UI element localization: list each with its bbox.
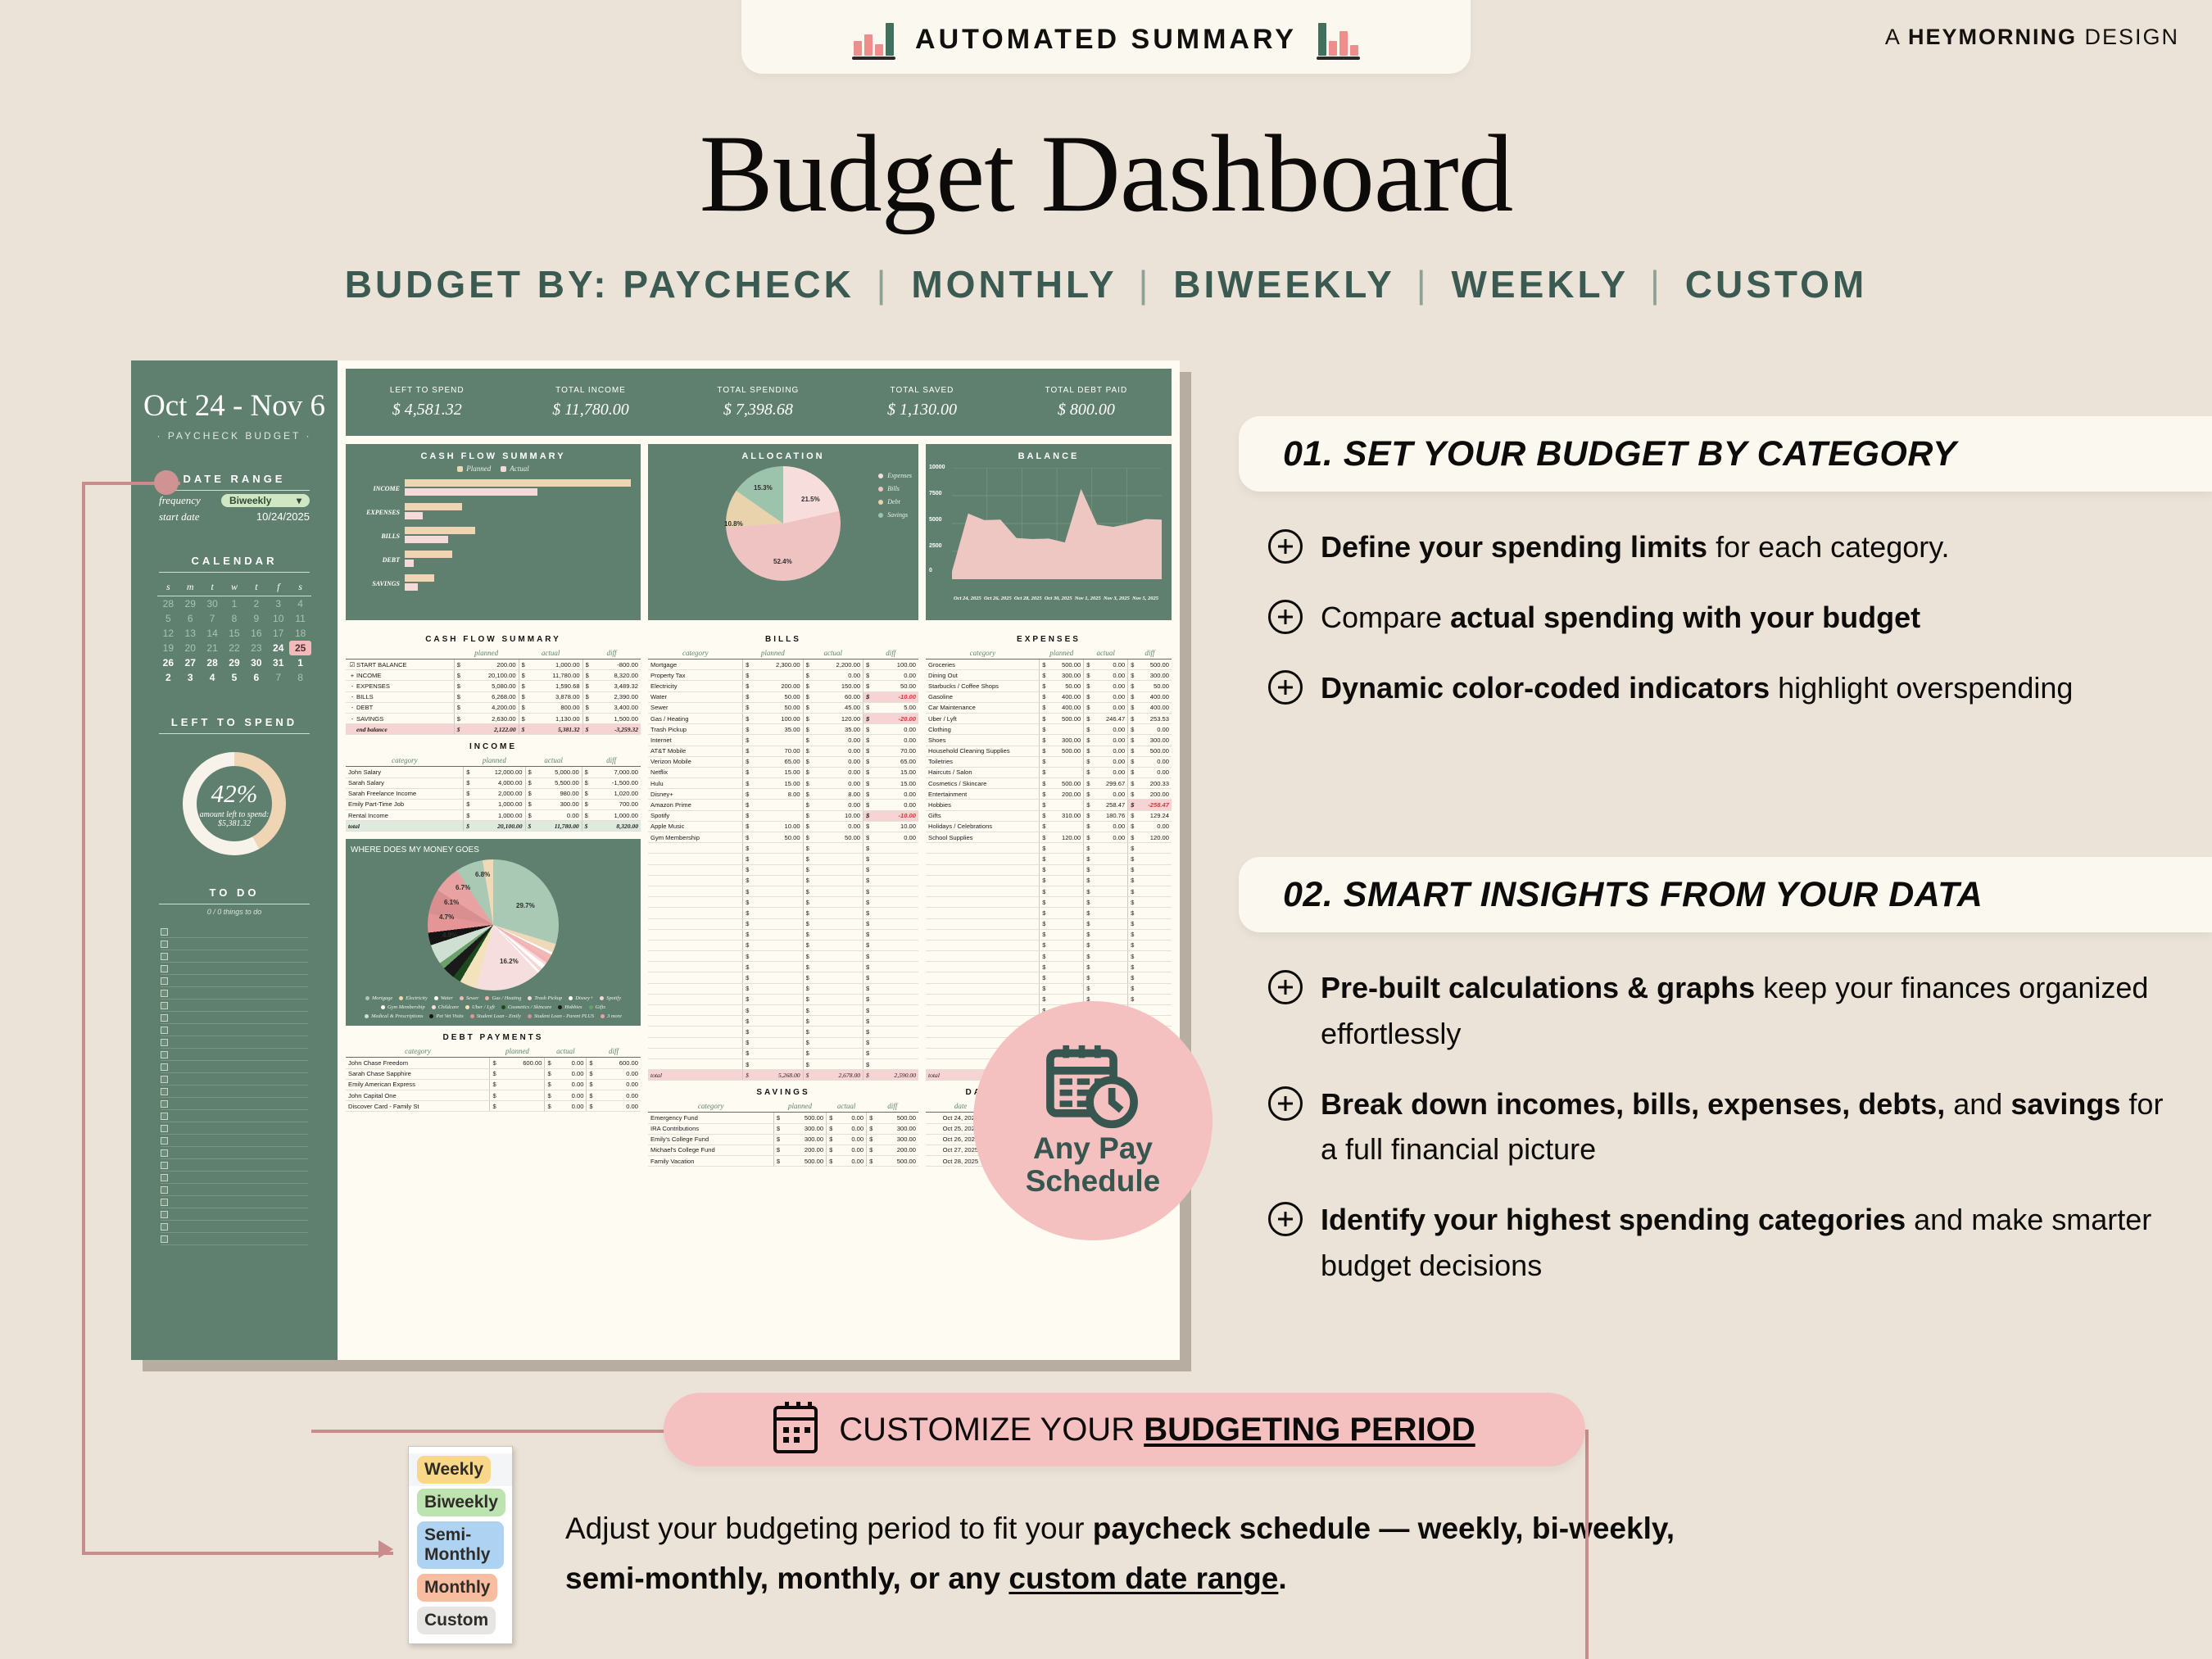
value-actual[interactable]: [1092, 918, 1127, 929]
value-actual[interactable]: [1092, 897, 1127, 908]
table-row[interactable]: +INCOME$20,100.00$11,780.00$8,320.00: [346, 670, 641, 681]
value-planned[interactable]: 6,268.00: [463, 691, 519, 702]
value-actual[interactable]: [812, 864, 863, 875]
calendar-day[interactable]: 4: [289, 596, 311, 612]
value-planned[interactable]: 2,122.00: [463, 724, 519, 735]
value-planned[interactable]: [1048, 821, 1083, 832]
value-planned[interactable]: [1048, 972, 1083, 983]
value-planned[interactable]: 50.00: [1048, 681, 1083, 691]
table-row[interactable]: Amazon Prime$$0.00$0.00: [648, 800, 918, 810]
table-row[interactable]: total$5,268.00$2,678.00$2,590.00: [648, 1070, 918, 1081]
table-row[interactable]: Gas / Heating$100.00$120.00$-20.00: [648, 713, 918, 723]
frequency-dropdown-options[interactable]: WeeklyBiweeklySemi-MonthlyMonthlyCustom: [408, 1446, 513, 1644]
value-planned[interactable]: 65.00: [751, 756, 803, 767]
value-actual[interactable]: 0.00: [835, 1134, 866, 1145]
value-planned[interactable]: [1048, 854, 1083, 864]
table-row[interactable]: -SAVINGS$2,630.00$1,130.00$1,500.00: [346, 713, 641, 723]
calendar-day[interactable]: 19: [157, 641, 179, 655]
value-planned[interactable]: 500.00: [782, 1113, 827, 1123]
calendar-day[interactable]: 18: [289, 626, 311, 641]
todo-checkbox[interactable]: [161, 1125, 168, 1132]
calendar-day[interactable]: 11: [289, 611, 311, 626]
value-planned[interactable]: [751, 962, 803, 972]
table-row-blank[interactable]: $$$: [648, 1027, 918, 1037]
todo-item[interactable]: [161, 938, 308, 950]
todo-checkbox[interactable]: [161, 1051, 168, 1058]
table-row-blank[interactable]: $$$: [648, 908, 918, 918]
table-row-blank[interactable]: $$$: [648, 940, 918, 950]
value-planned[interactable]: 10.00: [751, 821, 803, 832]
table-row-blank[interactable]: $$$: [648, 1005, 918, 1016]
value-planned[interactable]: 4,000.00: [472, 777, 525, 788]
value-planned[interactable]: 2,300.00: [751, 660, 803, 670]
calendar-day[interactable]: 14: [202, 626, 224, 641]
value-actual[interactable]: 60.00: [812, 691, 863, 702]
value-actual[interactable]: [1092, 940, 1127, 950]
value-planned[interactable]: 5,268.00: [751, 1070, 803, 1081]
value-actual[interactable]: 0.00: [1092, 724, 1127, 735]
calendar-day[interactable]: 31: [267, 655, 289, 670]
todo-item[interactable]: [161, 1098, 308, 1110]
value-planned[interactable]: 5,080.00: [463, 681, 519, 691]
table-row[interactable]: Family Vacation$500.00$0.00$500.00: [648, 1156, 918, 1167]
todo-list[interactable]: [143, 926, 326, 1245]
value-actual[interactable]: 0.00: [1092, 670, 1127, 681]
value-planned[interactable]: 200.00: [782, 1145, 827, 1155]
value-planned[interactable]: [1048, 983, 1083, 994]
value-actual[interactable]: 180.76: [1092, 810, 1127, 821]
value-actual[interactable]: [812, 1016, 863, 1027]
value-actual[interactable]: 0.00: [1092, 789, 1127, 800]
value-planned[interactable]: [751, 670, 803, 681]
value-actual[interactable]: 1,590.68: [528, 681, 582, 691]
value-actual[interactable]: 2,678.00: [812, 1070, 863, 1081]
value-actual[interactable]: [1092, 983, 1127, 994]
table-row-blank[interactable]: $$$: [926, 843, 1172, 854]
value-planned[interactable]: 8.00: [751, 789, 803, 800]
value-actual[interactable]: [1092, 886, 1127, 896]
table-row[interactable]: Spotify$$10.00$-10.00: [648, 810, 918, 821]
todo-checkbox[interactable]: [161, 1027, 168, 1034]
calendar-day[interactable]: 7: [267, 670, 289, 685]
todo-checkbox[interactable]: [161, 1076, 168, 1083]
value-actual[interactable]: 0.00: [554, 1079, 587, 1090]
value-actual[interactable]: [1092, 951, 1127, 962]
todo-checkbox[interactable]: [161, 990, 168, 997]
table-row-blank[interactable]: $$$: [926, 908, 1172, 918]
todo-item[interactable]: [161, 1024, 308, 1036]
table-row[interactable]: Hulu$15.00$0.00$15.00: [648, 778, 918, 789]
table-row[interactable]: Sarah Salary$4,000.00$5,500.00$-1,500.00: [346, 777, 641, 788]
todo-item[interactable]: [161, 987, 308, 999]
value-planned[interactable]: 500.00: [1048, 660, 1083, 670]
todo-checkbox[interactable]: [161, 1014, 168, 1022]
table-row-blank[interactable]: $$$: [648, 875, 918, 886]
table-row[interactable]: Car Maintenance$400.00$0.00$400.00: [926, 702, 1172, 713]
value-actual[interactable]: 1,000.00: [528, 660, 582, 670]
calendar-day[interactable]: 26: [157, 655, 179, 670]
calendar-day[interactable]: 28: [157, 596, 179, 612]
value-planned[interactable]: 15.00: [751, 767, 803, 777]
value-planned[interactable]: 2,630.00: [463, 713, 519, 723]
table-row[interactable]: Groceries$500.00$0.00$500.00: [926, 660, 1172, 670]
value-planned[interactable]: [1048, 908, 1083, 918]
table-row[interactable]: Household Cleaning Supplies$500.00$0.00$…: [926, 746, 1172, 756]
table-row-blank[interactable]: $$$: [926, 940, 1172, 950]
table-row[interactable]: Disney+$8.00$8.00$0.00: [648, 789, 918, 800]
value-planned[interactable]: 70.00: [751, 746, 803, 756]
todo-item[interactable]: [161, 1147, 308, 1159]
calendar-day[interactable]: 3: [267, 596, 289, 612]
value-actual[interactable]: [812, 962, 863, 972]
value-planned[interactable]: [1048, 886, 1083, 896]
value-actual[interactable]: 0.00: [812, 735, 863, 746]
value-actual[interactable]: 0.00: [1092, 832, 1127, 843]
value-actual[interactable]: [812, 843, 863, 854]
table-row[interactable]: Gifts$310.00$180.76$129.24: [926, 810, 1172, 821]
calendar-day[interactable]: 16: [245, 626, 267, 641]
value-actual[interactable]: 120.00: [812, 713, 863, 723]
start-date-value[interactable]: 10/24/2025: [256, 510, 310, 524]
value-actual[interactable]: [812, 929, 863, 940]
table-row-blank[interactable]: $$$: [926, 983, 1172, 994]
calendar-day[interactable]: 12: [157, 626, 179, 641]
table-row[interactable]: Sewer$50.00$45.00$5.00: [648, 702, 918, 713]
value-actual[interactable]: 0.00: [1092, 756, 1127, 767]
value-planned[interactable]: 120.00: [1048, 832, 1083, 843]
value-planned[interactable]: 20,100.00: [463, 670, 519, 681]
todo-checkbox[interactable]: [161, 1100, 168, 1108]
value-planned[interactable]: [1048, 767, 1083, 777]
value-planned[interactable]: 100.00: [751, 713, 803, 723]
value-actual[interactable]: [812, 854, 863, 864]
dropdown-option-weekly[interactable]: Weekly: [409, 1453, 512, 1486]
todo-item[interactable]: [161, 950, 308, 963]
subtitle-option-custom[interactable]: CUSTOM: [1671, 263, 1867, 306]
value-actual[interactable]: 0.00: [1092, 681, 1127, 691]
income-table[interactable]: category planned actual diff John Salary…: [346, 756, 641, 832]
value-actual[interactable]: [812, 1005, 863, 1016]
value-planned[interactable]: [1048, 800, 1083, 810]
table-row[interactable]: Toiletries$$0.00$0.00: [926, 756, 1172, 767]
value-actual[interactable]: [1092, 875, 1127, 886]
value-actual[interactable]: 0.00: [812, 767, 863, 777]
subtitle-option-paycheck[interactable]: PAYCHECK: [623, 263, 868, 306]
value-planned[interactable]: [1048, 918, 1083, 929]
calendar-day[interactable]: 25: [289, 641, 311, 655]
table-row-blank[interactable]: $$$: [926, 897, 1172, 908]
value-planned[interactable]: 400.00: [1048, 691, 1083, 702]
todo-checkbox[interactable]: [161, 1002, 168, 1009]
value-planned[interactable]: [751, 983, 803, 994]
table-row-blank[interactable]: $$$: [648, 1037, 918, 1048]
table-row-blank[interactable]: $$$: [648, 983, 918, 994]
todo-item[interactable]: [161, 1073, 308, 1086]
value-actual[interactable]: [812, 972, 863, 983]
value-actual[interactable]: 0.00: [554, 1090, 587, 1101]
table-row-blank[interactable]: $$$: [648, 951, 918, 962]
value-actual[interactable]: 0.00: [554, 1101, 587, 1112]
table-row-blank[interactable]: $$$: [648, 843, 918, 854]
value-actual[interactable]: 0.00: [1092, 702, 1127, 713]
calendar-day[interactable]: 5: [157, 611, 179, 626]
value-planned[interactable]: [751, 1016, 803, 1027]
table-row[interactable]: Sarah Freelance Income$2,000.00$980.00$1…: [346, 788, 641, 799]
table-row-blank[interactable]: $$$: [648, 864, 918, 875]
value-actual[interactable]: [812, 1058, 863, 1069]
value-planned[interactable]: 200.00: [1048, 789, 1083, 800]
dropdown-option-biweekly[interactable]: Biweekly: [409, 1486, 512, 1519]
value-planned[interactable]: 500.00: [1048, 713, 1083, 723]
todo-item[interactable]: [161, 1110, 308, 1122]
value-planned[interactable]: 1,000.00: [472, 810, 525, 821]
value-planned[interactable]: [499, 1101, 545, 1112]
table-row-blank[interactable]: $$$: [648, 972, 918, 983]
value-actual[interactable]: 150.00: [812, 681, 863, 691]
value-planned[interactable]: [751, 1005, 803, 1016]
value-planned[interactable]: [1048, 756, 1083, 767]
value-planned[interactable]: [751, 918, 803, 929]
value-actual[interactable]: 0.00: [1092, 821, 1127, 832]
value-actual[interactable]: 0.00: [812, 746, 863, 756]
value-actual[interactable]: [1092, 864, 1127, 875]
value-actual[interactable]: 0.00: [1092, 767, 1127, 777]
calendar-day[interactable]: 30: [245, 655, 267, 670]
value-actual[interactable]: 2,200.00: [812, 660, 863, 670]
calendar-day[interactable]: 2: [157, 670, 179, 685]
todo-item[interactable]: [161, 1036, 308, 1049]
bottom-text-d[interactable]: custom date range: [1009, 1562, 1278, 1595]
value-planned[interactable]: [751, 951, 803, 962]
value-planned[interactable]: [1048, 875, 1083, 886]
value-actual[interactable]: 0.00: [1092, 746, 1127, 756]
todo-item[interactable]: [161, 963, 308, 975]
value-planned[interactable]: [751, 875, 803, 886]
value-planned[interactable]: 200.00: [463, 660, 519, 670]
frequency-select[interactable]: Biweekly ▾: [221, 494, 310, 507]
table-row-blank[interactable]: $$$: [926, 864, 1172, 875]
value-actual[interactable]: 258.47: [1092, 800, 1127, 810]
todo-checkbox[interactable]: [161, 1162, 168, 1169]
value-actual[interactable]: 0.00: [554, 1058, 587, 1068]
table-row[interactable]: total$20,100.00$11,780.00$8,320.00: [346, 821, 641, 832]
value-planned[interactable]: 50.00: [751, 832, 803, 843]
todo-checkbox[interactable]: [161, 1113, 168, 1120]
table-row-blank[interactable]: $$$: [648, 929, 918, 940]
todo-item[interactable]: [161, 1086, 308, 1098]
todo-checkbox[interactable]: [161, 1149, 168, 1157]
calendar-day[interactable]: 28: [202, 655, 224, 670]
value-actual[interactable]: 0.00: [812, 821, 863, 832]
subtitle-option-weekly[interactable]: WEEKLY: [1438, 263, 1642, 306]
value-planned[interactable]: 600.00: [499, 1058, 545, 1068]
table-row[interactable]: Cosmetics / Skincare$500.00$299.67$200.3…: [926, 778, 1172, 789]
value-planned[interactable]: [499, 1079, 545, 1090]
todo-checkbox[interactable]: [161, 1211, 168, 1218]
table-row[interactable]: Internet$$0.00$0.00: [648, 735, 918, 746]
table-row-blank[interactable]: $$$: [926, 854, 1172, 864]
table-row[interactable]: Starbucks / Coffee Shops$50.00$0.00$50.0…: [926, 681, 1172, 691]
value-actual[interactable]: [812, 983, 863, 994]
value-planned[interactable]: 35.00: [751, 724, 803, 735]
todo-checkbox[interactable]: [161, 1088, 168, 1095]
value-planned[interactable]: [1048, 940, 1083, 950]
todo-checkbox[interactable]: [161, 941, 168, 948]
todo-item[interactable]: [161, 1172, 308, 1184]
calendar-day[interactable]: 8: [224, 611, 246, 626]
todo-checkbox[interactable]: [161, 1174, 168, 1181]
value-planned[interactable]: [751, 886, 803, 896]
calendar-day[interactable]: 27: [179, 655, 202, 670]
table-row[interactable]: -EXPENSES$5,080.00$1,590.68$3,489.32: [346, 681, 641, 691]
value-planned[interactable]: [751, 843, 803, 854]
value-planned[interactable]: [1048, 897, 1083, 908]
value-planned[interactable]: [751, 908, 803, 918]
dropdown-option-monthly[interactable]: Monthly: [409, 1571, 512, 1604]
value-planned[interactable]: 15.00: [751, 778, 803, 789]
table-row[interactable]: Entertainment$200.00$0.00$200.00: [926, 789, 1172, 800]
value-actual[interactable]: [812, 940, 863, 950]
value-actual[interactable]: [1092, 908, 1127, 918]
value-planned[interactable]: 500.00: [1048, 746, 1083, 756]
value-actual[interactable]: 8.00: [812, 789, 863, 800]
value-planned[interactable]: [751, 1027, 803, 1037]
calendar-day[interactable]: 24: [267, 641, 289, 655]
value-planned[interactable]: [751, 800, 803, 810]
value-actual[interactable]: [812, 1027, 863, 1037]
table-row[interactable]: Emily Part-Time Job$1,000.00$300.00$700.…: [346, 799, 641, 809]
value-planned[interactable]: [1048, 951, 1083, 962]
table-row[interactable]: Shoes$300.00$0.00$300.00: [926, 735, 1172, 746]
value-planned[interactable]: 300.00: [782, 1134, 827, 1145]
value-actual[interactable]: [1092, 854, 1127, 864]
value-actual[interactable]: [812, 886, 863, 896]
todo-item[interactable]: [161, 1135, 308, 1147]
table-row[interactable]: Uber / Lyft$500.00$246.47$253.53: [926, 713, 1172, 723]
table-row[interactable]: School Supplies$120.00$0.00$120.00: [926, 832, 1172, 843]
table-row[interactable]: Verizon Mobile$65.00$0.00$65.00: [648, 756, 918, 767]
debt-payments-table[interactable]: category planned actual diff John Chase …: [346, 1047, 641, 1112]
value-actual[interactable]: 11,780.00: [534, 821, 582, 832]
value-planned[interactable]: 2,000.00: [472, 788, 525, 799]
calendar[interactable]: smtwtfs282930123456789101112131415161718…: [157, 581, 311, 685]
value-actual[interactable]: 35.00: [812, 724, 863, 735]
value-actual[interactable]: 0.00: [812, 670, 863, 681]
table-row[interactable]: -BILLS$6,268.00$3,878.00$2,390.00: [346, 691, 641, 702]
value-planned[interactable]: [499, 1068, 545, 1079]
calendar-day[interactable]: 29: [179, 596, 202, 612]
table-row[interactable]: Dining Out$300.00$0.00$300.00: [926, 670, 1172, 681]
value-planned[interactable]: [499, 1090, 545, 1101]
todo-item[interactable]: [161, 1196, 308, 1208]
todo-item[interactable]: [161, 1184, 308, 1196]
value-actual[interactable]: 299.67: [1092, 778, 1127, 789]
todo-checkbox[interactable]: [161, 1137, 168, 1145]
bills-table[interactable]: category planned actual diff Mortgage$2,…: [648, 649, 918, 1081]
value-planned[interactable]: 1,000.00: [472, 799, 525, 809]
value-actual[interactable]: 0.00: [534, 810, 582, 821]
value-planned[interactable]: [751, 972, 803, 983]
calendar-day[interactable]: 29: [224, 655, 246, 670]
calendar-day[interactable]: 13: [179, 626, 202, 641]
table-row[interactable]: IRA Contributions$300.00$0.00$300.00: [648, 1123, 918, 1134]
table-row[interactable]: Haircuts / Salon$$0.00$0.00: [926, 767, 1172, 777]
calendar-day[interactable]: 1: [224, 596, 246, 612]
value-actual[interactable]: [1092, 843, 1127, 854]
value-planned[interactable]: [751, 1037, 803, 1048]
value-actual[interactable]: 5,381.32: [528, 724, 582, 735]
value-actual[interactable]: 5,000.00: [534, 767, 582, 777]
value-planned[interactable]: 500.00: [1048, 778, 1083, 789]
table-row[interactable]: Clothing$$0.00$0.00: [926, 724, 1172, 735]
value-planned[interactable]: 500.00: [782, 1156, 827, 1167]
value-actual[interactable]: [812, 875, 863, 886]
todo-item[interactable]: [161, 926, 308, 938]
cash-flow-table[interactable]: planned actual diff ☑START BALANCE$200.0…: [346, 649, 641, 735]
table-row-blank[interactable]: $$$: [648, 897, 918, 908]
table-row[interactable]: Water$50.00$60.00$-10.00: [648, 691, 918, 702]
value-actual[interactable]: [812, 1048, 863, 1058]
todo-item[interactable]: [161, 1061, 308, 1073]
table-row[interactable]: John Capital One$$0.00$0.00: [346, 1090, 641, 1101]
table-row-blank[interactable]: $$$: [648, 1058, 918, 1069]
value-planned[interactable]: 300.00: [1048, 735, 1083, 746]
value-planned[interactable]: [1048, 962, 1083, 972]
calendar-day[interactable]: 3: [179, 670, 202, 685]
todo-checkbox[interactable]: [161, 1199, 168, 1206]
table-row[interactable]: Sarah Chase Sapphire$$0.00$0.00: [346, 1068, 641, 1079]
value-planned[interactable]: [1048, 843, 1083, 854]
table-row[interactable]: Apple Music$10.00$0.00$10.00: [648, 821, 918, 832]
value-planned[interactable]: [751, 897, 803, 908]
calendar-day[interactable]: 20: [179, 641, 202, 655]
table-row[interactable]: John Chase Freedom$600.00$0.00$600.00: [346, 1058, 641, 1068]
calendar-day[interactable]: 21: [202, 641, 224, 655]
todo-item[interactable]: [161, 1233, 308, 1245]
value-planned[interactable]: [1048, 929, 1083, 940]
value-actual[interactable]: 5,500.00: [534, 777, 582, 788]
value-actual[interactable]: [812, 918, 863, 929]
value-planned[interactable]: 12,000.00: [472, 767, 525, 777]
todo-item[interactable]: [161, 1159, 308, 1172]
table-row-blank[interactable]: $$$: [926, 886, 1172, 896]
value-planned[interactable]: 200.00: [751, 681, 803, 691]
value-actual[interactable]: 0.00: [835, 1123, 866, 1134]
value-planned[interactable]: [751, 929, 803, 940]
value-planned[interactable]: 310.00: [1048, 810, 1083, 821]
table-row[interactable]: Discover Card - Family St$$0.00$0.00: [346, 1101, 641, 1112]
table-row-blank[interactable]: $$$: [926, 951, 1172, 962]
savings-table[interactable]: category planned actual diff Emergency F…: [648, 1102, 918, 1167]
table-row[interactable]: Hobbies$$258.47$-258.47: [926, 800, 1172, 810]
table-row[interactable]: Gasoline$400.00$0.00$400.00: [926, 691, 1172, 702]
table-row-blank[interactable]: $$$: [926, 994, 1172, 1004]
table-row[interactable]: Gym Membership$50.00$50.00$0.00: [648, 832, 918, 843]
todo-item[interactable]: [161, 975, 308, 987]
todo-item[interactable]: [161, 1208, 308, 1221]
value-actual[interactable]: 800.00: [528, 702, 582, 713]
table-row-blank[interactable]: $$$: [648, 854, 918, 864]
value-planned[interactable]: 400.00: [1048, 702, 1083, 713]
dropdown-option-semi-monthly[interactable]: Semi-Monthly: [409, 1519, 512, 1571]
value-actual[interactable]: 0.00: [1092, 691, 1127, 702]
todo-item[interactable]: [161, 1221, 308, 1233]
value-actual[interactable]: [812, 908, 863, 918]
todo-checkbox[interactable]: [161, 977, 168, 985]
todo-checkbox[interactable]: [161, 1186, 168, 1194]
value-actual[interactable]: 0.00: [812, 800, 863, 810]
table-row-blank[interactable]: $$$: [926, 875, 1172, 886]
